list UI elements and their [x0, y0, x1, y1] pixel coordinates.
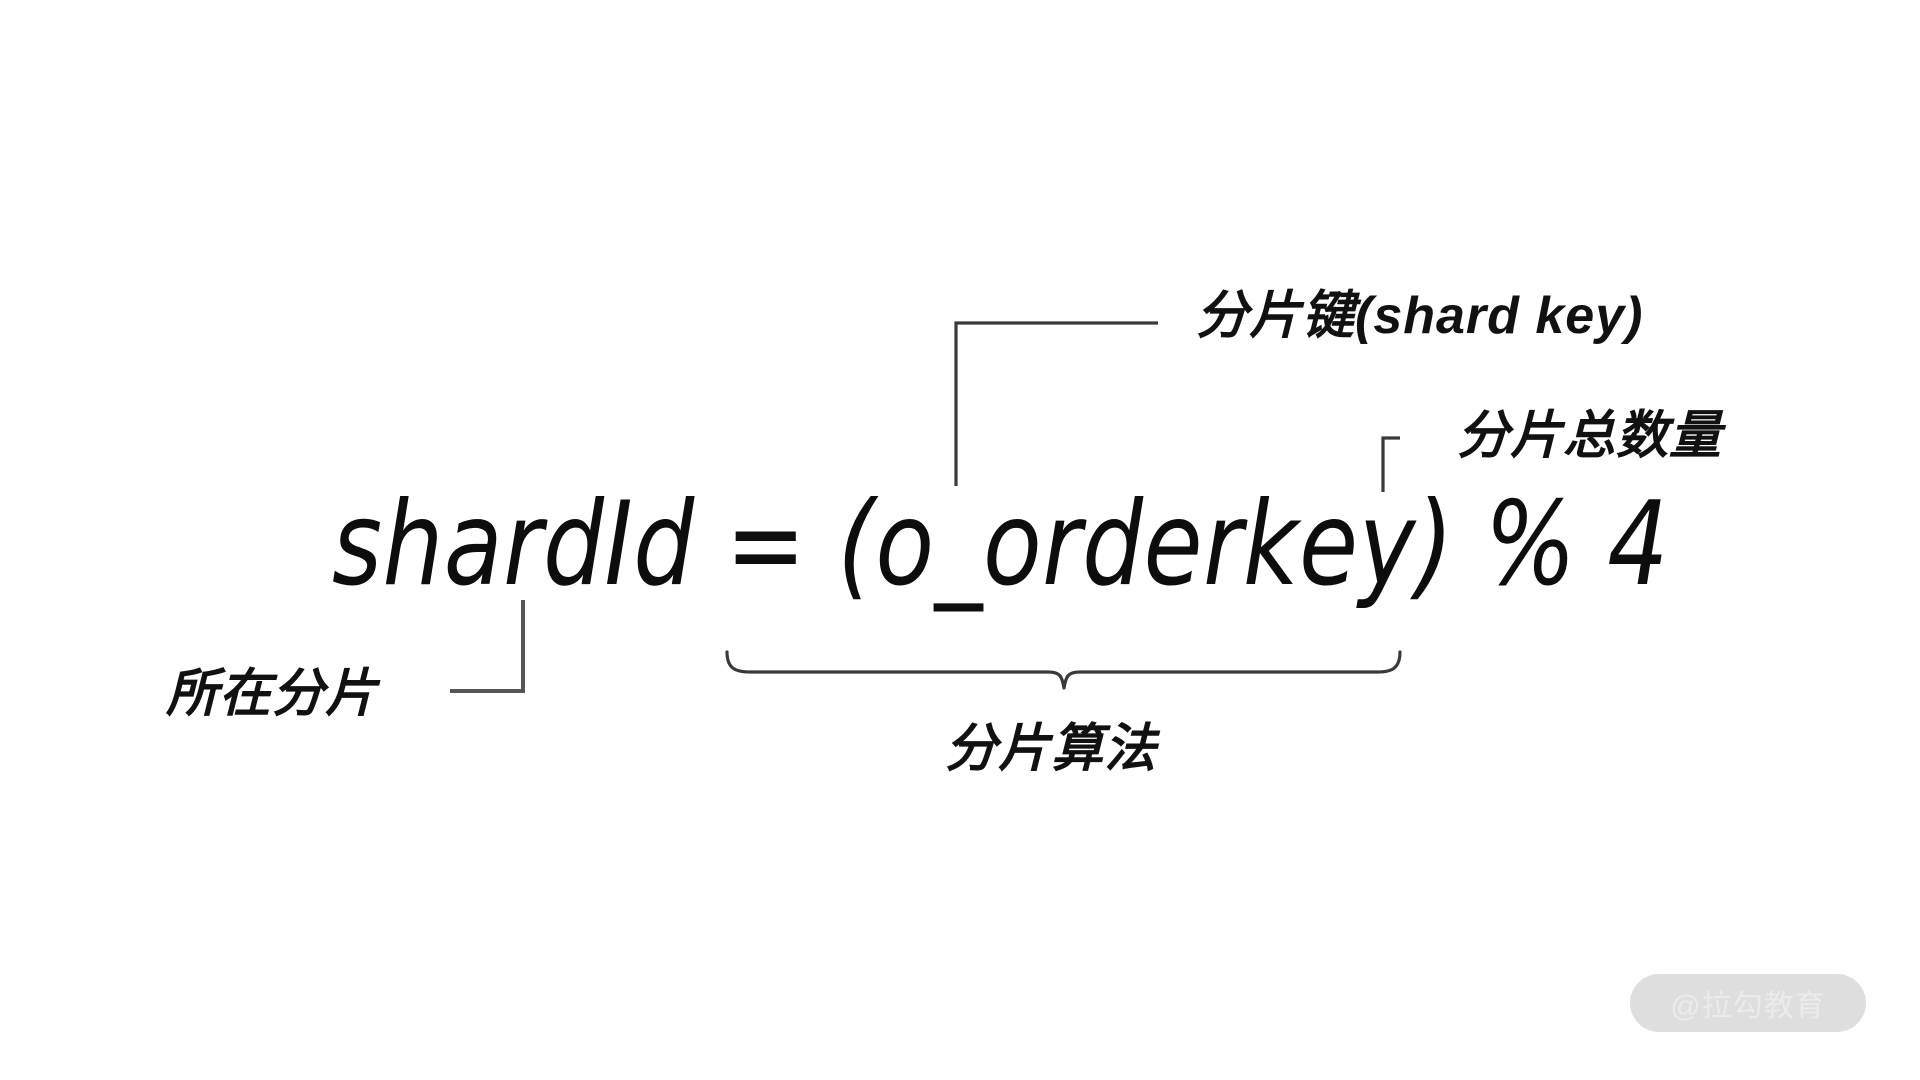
shard-formula: shardId = (o_orderkey) % 4 [332, 487, 1669, 603]
label-shard-algorithm: 分片算法 [945, 723, 1157, 775]
label-located-shard: 所在分片 [166, 668, 378, 720]
shard-algorithm-brace [727, 652, 1400, 688]
label-shard-key: 分片键(shard key) [1196, 290, 1643, 342]
diagram-canvas: shardId = (o_orderkey) % 4 分片键(shard key… [0, 0, 1920, 1080]
watermark-text: @拉勾教育 [1670, 981, 1825, 1025]
located-shard-connector [450, 600, 523, 691]
watermark-badge: @拉勾教育 [1630, 974, 1866, 1032]
label-shard-total-count: 分片总数量 [1457, 410, 1722, 462]
shard-key-connector [956, 323, 1158, 486]
